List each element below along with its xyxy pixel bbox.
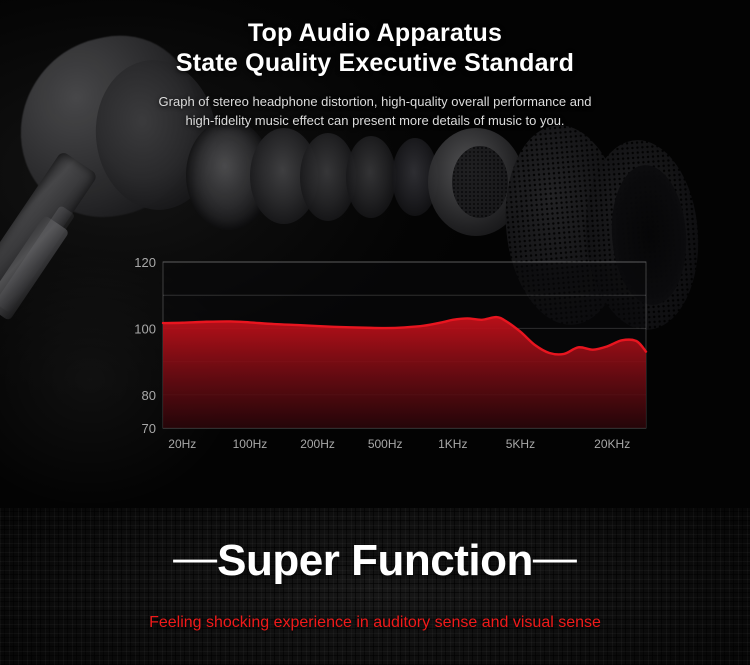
hero-title-block: Top Audio Apparatus State Quality Execut… bbox=[0, 18, 750, 78]
banner-dash-right: — bbox=[533, 536, 577, 580]
driver-ring-a-icon bbox=[186, 120, 272, 230]
frequency-response-chart: 708010012020Hz100Hz200Hz500Hz1KHz5KHz20K… bbox=[120, 248, 665, 463]
hero-title-line-2: State Quality Executive Standard bbox=[0, 48, 750, 78]
chart-x-tick-label: 200Hz bbox=[300, 437, 335, 451]
banner-title-row: —Super Function— bbox=[0, 536, 750, 586]
chart-x-tick-label: 100Hz bbox=[233, 437, 268, 451]
banner-title: Super Function bbox=[217, 536, 533, 586]
promo-page: Top Audio Apparatus State Quality Execut… bbox=[0, 0, 750, 665]
chart-x-tick-label: 5KHz bbox=[506, 437, 535, 451]
driver-ring-e-icon bbox=[392, 138, 438, 216]
banner-subtitle: Feeling shocking experience in auditory … bbox=[0, 613, 750, 633]
chart-x-tick-label: 20KHz bbox=[594, 437, 630, 451]
frequency-response-chart-svg: 708010012020Hz100Hz200Hz500Hz1KHz5KHz20K… bbox=[120, 248, 665, 463]
driver-ring-d-icon bbox=[346, 136, 396, 218]
hero-description-block: Graph of stereo headphone distortion, hi… bbox=[0, 92, 750, 130]
banner-dash-left: — bbox=[173, 536, 217, 580]
hero-section: Top Audio Apparatus State Quality Execut… bbox=[0, 0, 750, 508]
headphone-headband-slider-icon bbox=[0, 215, 70, 321]
chart-x-tick-label: 500Hz bbox=[368, 437, 403, 451]
driver-ring-c-icon bbox=[300, 133, 356, 221]
headphone-ear-cup-rim-icon bbox=[88, 54, 223, 216]
chart-y-tick-label: 70 bbox=[142, 421, 156, 436]
chart-x-tick-label: 20Hz bbox=[168, 437, 196, 451]
driver-mesh-icon bbox=[452, 146, 508, 218]
hero-description-line-1: Graph of stereo headphone distortion, hi… bbox=[0, 92, 750, 111]
chart-x-tick-label: 1KHz bbox=[438, 437, 467, 451]
driver-magnet-disc-icon bbox=[428, 128, 524, 236]
super-function-banner: —Super Function— Feeling shocking experi… bbox=[0, 508, 750, 665]
chart-y-tick-label: 80 bbox=[142, 388, 156, 403]
hero-title-line-1: Top Audio Apparatus bbox=[0, 18, 750, 48]
hero-description-line-2: high-fidelity music effect can present m… bbox=[0, 111, 750, 130]
headphone-headband-arm-icon bbox=[0, 150, 98, 317]
chart-y-tick-label: 100 bbox=[134, 321, 156, 336]
driver-ring-b-icon bbox=[250, 128, 318, 224]
chart-y-tick-label: 120 bbox=[134, 255, 156, 270]
headphone-arm-highlight-icon bbox=[0, 205, 75, 313]
